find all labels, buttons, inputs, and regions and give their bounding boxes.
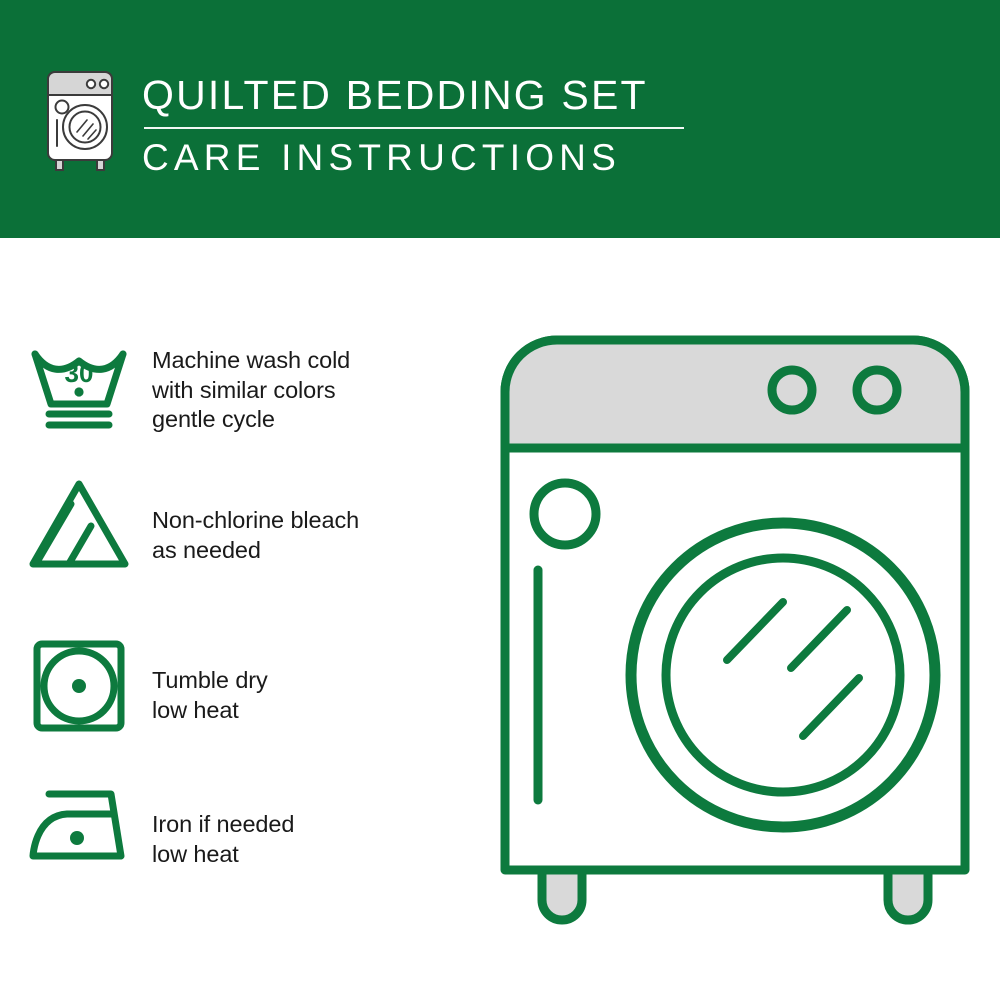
wash-temperature-label: 30 (65, 358, 94, 388)
care-row-bleach: Non-chlorine bleach as needed (0, 478, 470, 570)
care-text-bleach: Non-chlorine bleach as needed (152, 478, 359, 565)
care-instructions-infographic: QUILTED BEDDING SET CARE INSTRUCTIONS 30 (0, 0, 1000, 1000)
washing-machine-icon (44, 68, 116, 172)
care-row-iron: Iron if needed low heat (0, 786, 470, 869)
care-text-line: low heat (152, 696, 268, 726)
care-text-line: as needed (152, 536, 359, 566)
leg-right (888, 870, 928, 920)
bleach-triangle-icon (0, 478, 152, 570)
washing-machine-illustration (495, 330, 975, 930)
page-title: QUILTED BEDDING SET (142, 72, 702, 118)
care-text-tumble-dry: Tumble dry low heat (152, 638, 268, 725)
care-text-iron: Iron if needed low heat (152, 786, 294, 869)
care-instruction-list: 30 Machine wash cold with similar colors… (0, 238, 500, 1000)
page-subtitle: CARE INSTRUCTIONS (142, 137, 702, 179)
header-titles: QUILTED BEDDING SET CARE INSTRUCTIONS (142, 72, 702, 179)
care-text-line: Tumble dry (152, 666, 268, 696)
care-row-machine-wash: 30 Machine wash cold with similar colors… (0, 344, 470, 435)
leg-left (542, 870, 582, 920)
care-text-line: Iron if needed (152, 810, 294, 840)
care-text-machine-wash: Machine wash cold with similar colors ge… (152, 344, 350, 435)
title-divider (144, 127, 684, 129)
header-banner: QUILTED BEDDING SET CARE INSTRUCTIONS (0, 0, 1000, 238)
care-row-tumble-dry: Tumble dry low heat (0, 638, 470, 734)
detergent-indicator-circle (534, 483, 596, 545)
care-text-line: low heat (152, 840, 294, 870)
knob-right (857, 370, 897, 410)
care-text-line: Machine wash cold (152, 346, 350, 376)
care-text-line: with similar colors (152, 376, 350, 406)
care-text-line: Non-chlorine bleach (152, 506, 359, 536)
wash-tub-icon: 30 (0, 344, 152, 432)
iron-icon (0, 786, 152, 862)
care-text-line: gentle cycle (152, 405, 350, 435)
door-inner-ring (666, 558, 900, 792)
tumble-dry-icon (0, 638, 152, 734)
knob-left (772, 370, 812, 410)
